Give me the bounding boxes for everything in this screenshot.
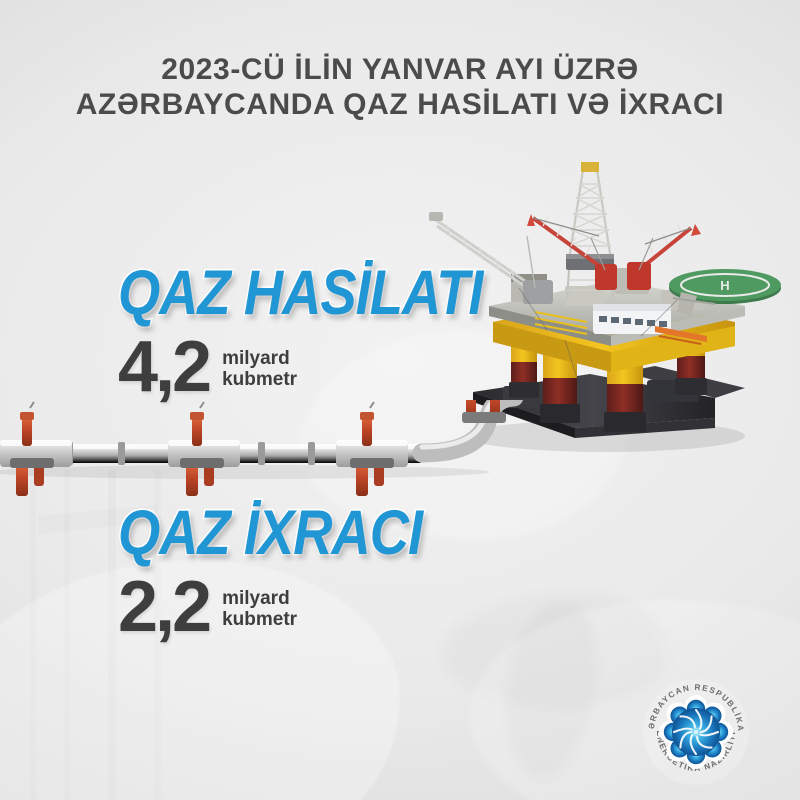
- title-line-1: 2023-CÜ İLİN YANVAR AYI ÜZRƏ: [0, 52, 800, 87]
- infographic-canvas: 2023-CÜ İLİN YANVAR AYI ÜZRƏ AZƏRBAYCAND…: [0, 0, 800, 800]
- stat-value-row-export: 2,2 milyard kubmetr: [118, 574, 432, 640]
- background-shadow-left: [440, 590, 670, 710]
- svg-text:H: H: [720, 278, 729, 293]
- stat-unit-line1-production: milyard: [222, 348, 297, 370]
- stat-heading-production: QAZ HASİLATI: [118, 261, 483, 324]
- logo-emblem: [659, 695, 733, 769]
- stat-gas-export: QAZ İXRACI 2,2 milyard kubmetr: [118, 508, 432, 640]
- stat-value-row-production: 4,2 milyard kubmetr: [118, 334, 494, 400]
- title-line-2: AZƏRBAYCANDA QAZ HASİLATI VƏ İXRACI: [0, 87, 800, 122]
- background-shadow-column: [487, 593, 612, 788]
- stat-unit-line2-export: kubmetr: [222, 609, 297, 631]
- stat-unit-export: milyard kubmetr: [222, 588, 297, 632]
- stat-heading-export: QAZ İXRACI: [118, 501, 422, 564]
- ministry-logo: AZƏRBAYCAN RESPUBLİKASI ENERGETİKA NAZİR…: [640, 676, 752, 788]
- page-title: 2023-CÜ İLİN YANVAR AYI ÜZRƏ AZƏRBAYCAND…: [0, 52, 800, 123]
- stat-unit-line2-production: kubmetr: [222, 369, 297, 391]
- stat-unit-production: milyard kubmetr: [222, 348, 297, 392]
- stat-number-export: 2,2: [118, 574, 209, 640]
- stat-unit-line1-export: milyard: [222, 588, 297, 610]
- stat-gas-production: QAZ HASİLATI 4,2 milyard kubmetr: [118, 268, 494, 400]
- stat-number-production: 4,2: [118, 334, 209, 400]
